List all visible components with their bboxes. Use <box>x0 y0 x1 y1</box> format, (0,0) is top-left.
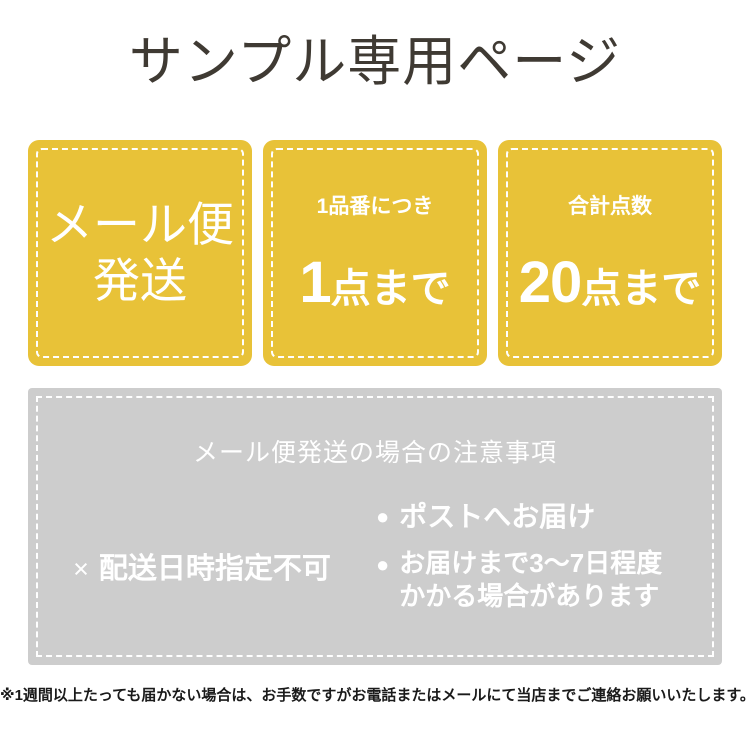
page-title: サンプル専用ページ <box>0 30 750 94</box>
bullet-dot-icon: ● <box>376 499 389 535</box>
card-mail-shipping-line1: メール便 <box>28 197 252 253</box>
cross-mark-icon: × <box>73 554 89 584</box>
card-per-item-limit-content: 1品番につき 1点まで <box>263 194 487 312</box>
card-per-item-limit-caption: 1品番につき <box>263 194 487 220</box>
notice-bullet-delivery-to-post: ● ポストへお届け <box>376 499 706 535</box>
notice-panel: メール便発送の場合の注意事項 ×配送日時指定不可 ● ポストへお届け ● お届け… <box>28 388 722 665</box>
notice-bullet-delivery-time: ● お届けまで3〜7日程度 かかる場合があります <box>376 547 706 613</box>
card-total-limit-number: 20 <box>519 250 582 315</box>
card-total-limit: 合計点数 20点まで <box>498 140 722 366</box>
no-delivery-time-selection-item: ×配送日時指定不可 <box>73 551 331 587</box>
notice-right-column: ● ポストへお届け ● お届けまで3〜7日程度 かかる場合があります <box>376 493 706 613</box>
card-per-item-limit-value: 1点まで <box>263 254 487 312</box>
notice-bullet-delivery-time-text: お届けまで3〜7日程度 かかる場合があります <box>399 547 662 613</box>
card-total-limit-content: 合計点数 20点まで <box>498 194 722 312</box>
card-total-limit-unit: 点まで <box>581 267 701 311</box>
footnote: ※1週間以上たっても届かない場合は、お手数ですがお電話またはメールにて当店までご… <box>0 686 750 706</box>
notice-bullet-delivery-time-line2: かかる場合があります <box>399 580 662 613</box>
notice-left-column: ×配送日時指定不可 <box>28 493 376 653</box>
bullet-dot-icon: ● <box>376 547 389 583</box>
card-per-item-limit-number: 1 <box>299 250 330 315</box>
card-mail-shipping-line2: 発送 <box>28 253 252 309</box>
card-mail-shipping-content: メール便 発送 <box>28 197 252 309</box>
sample-page: サンプル専用ページ メール便 発送 1品番につき 1点まで 合計点数 <box>0 0 750 750</box>
notice-body: ×配送日時指定不可 ● ポストへお届け ● お届けまで3〜7日程度 かかる場合が… <box>28 493 722 653</box>
card-total-limit-value: 20点まで <box>498 254 722 312</box>
card-per-item-limit-unit: 点まで <box>331 267 451 311</box>
no-delivery-time-selection-label: 配送日時指定不可 <box>99 553 331 585</box>
shipping-cards-row: メール便 発送 1品番につき 1点まで 合計点数 20点まで <box>28 140 722 366</box>
card-mail-shipping: メール便 発送 <box>28 140 252 366</box>
card-per-item-limit: 1品番につき 1点まで <box>263 140 487 366</box>
notice-bullet-delivery-to-post-label: ポストへお届け <box>399 499 595 535</box>
notice-heading: メール便発送の場合の注意事項 <box>28 438 722 468</box>
notice-bullet-delivery-time-line1: お届けまで3〜7日程度 <box>399 547 662 580</box>
card-total-limit-caption: 合計点数 <box>498 194 722 220</box>
